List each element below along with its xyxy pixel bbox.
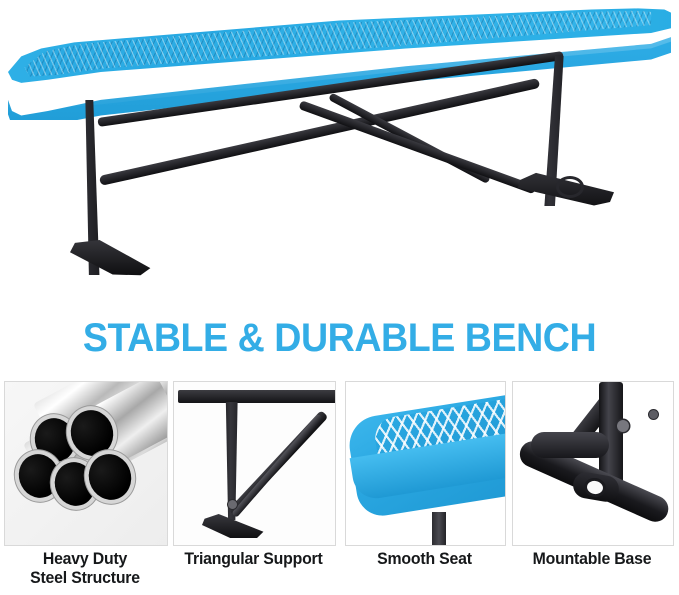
page-title: STABLE & DURABLE BENCH: [20, 316, 658, 361]
caption-line-1: Smooth Seat: [348, 550, 501, 569]
bolt-icon: [649, 410, 658, 419]
seat-support-leg: [432, 512, 446, 545]
base-tube-stub: [531, 432, 609, 458]
mountable-base-image: [513, 382, 673, 545]
feature-panel-smooth-seat: [345, 381, 506, 546]
diagonal-brace-highlight: [231, 414, 323, 518]
smooth-seat-image: [346, 382, 505, 545]
caption-triangular-support: Triangular Support: [176, 550, 331, 569]
hero-product-image: [0, 0, 679, 300]
caption-line-1: Heavy Duty: [7, 550, 163, 569]
feature-panel-mountable-base: [512, 381, 674, 546]
caption-heavy-duty-steel-structure: Heavy Duty Steel Structure: [7, 550, 163, 588]
feature-panel-row: [0, 381, 679, 546]
bench-foot-left: [70, 240, 152, 276]
caption-smooth-seat: Smooth Seat: [348, 550, 501, 569]
bolt-icon: [228, 500, 237, 509]
caption-line-1: Triangular Support: [176, 550, 331, 569]
bench-foot-mount-hole: [556, 176, 584, 198]
caption-mountable-base: Mountable Base: [515, 550, 669, 569]
caption-line-2: Steel Structure: [7, 569, 163, 588]
caption-line-1: Mountable Base: [515, 550, 669, 569]
feature-caption-row: Heavy Duty Steel Structure Triangular Su…: [0, 550, 679, 595]
bench-frame-rail: [178, 390, 336, 403]
feature-panel-triangular-support: [173, 381, 336, 546]
feature-panel-heavy-duty-steel-structure: [4, 381, 168, 546]
steel-tubes-image: [5, 382, 167, 545]
bolt-icon: [617, 420, 629, 432]
